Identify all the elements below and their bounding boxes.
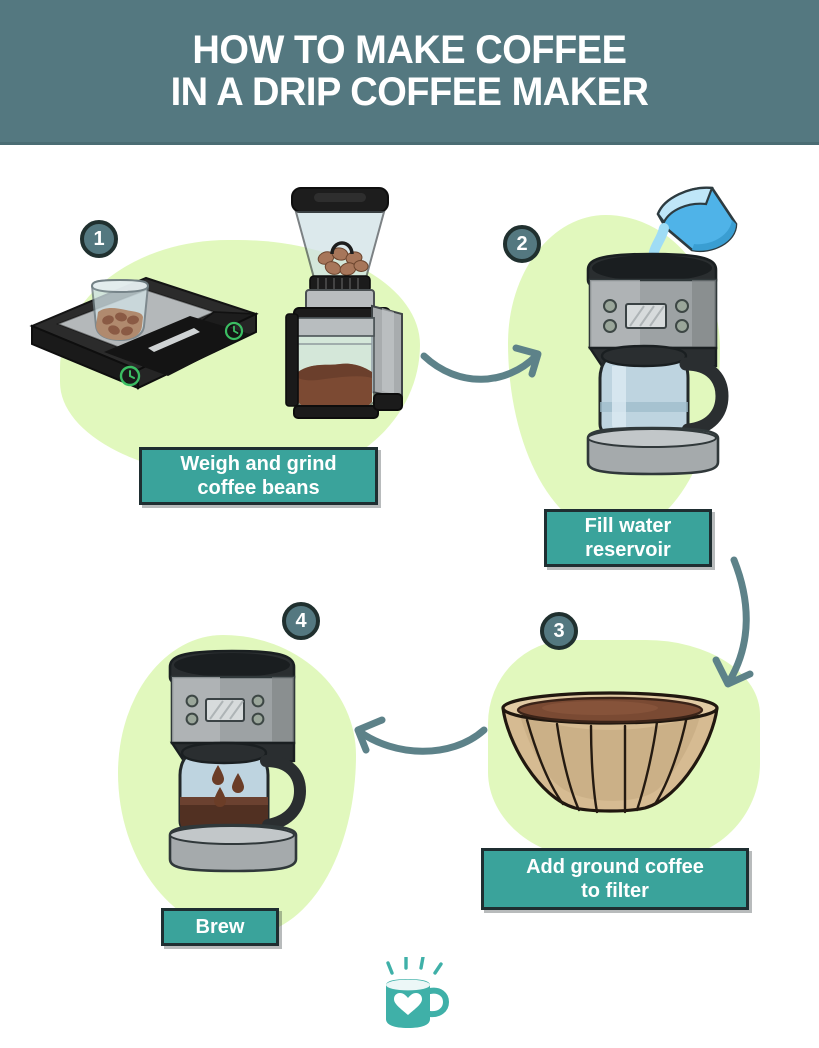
step-2-illustration xyxy=(540,180,770,480)
page-title-line-1: HOW TO MAKE COFFEE xyxy=(192,29,626,71)
step-1-number: 1 xyxy=(93,229,104,249)
step-1-number-badge: 1 xyxy=(80,220,118,258)
step-3-number-badge: 3 xyxy=(540,612,578,650)
step-1-illustration xyxy=(18,186,428,436)
coffee-mug-with-heart-icon xyxy=(362,957,458,1033)
step-1-label-chip: Weigh and grind coffee beans xyxy=(139,447,378,505)
page-title-line-2: IN A DRIP COFFEE MAKER xyxy=(171,71,649,113)
step-2-label-line-1: Fill water xyxy=(585,514,672,538)
step-4-label-chip: Brew xyxy=(161,908,279,946)
step-3-label-chip: Add ground coffee to filter xyxy=(481,848,749,910)
step-4-number-badge: 4 xyxy=(282,602,320,640)
step-4-number: 4 xyxy=(295,611,306,631)
step-2-number-badge: 2 xyxy=(503,225,541,263)
glass-cup-with-beans-icon xyxy=(92,280,148,340)
arrow-step3-to-step4 xyxy=(334,700,494,770)
brewing-coffee-maker-icon xyxy=(170,651,300,871)
step-2-number: 2 xyxy=(516,234,527,254)
paper-filter-basket-icon xyxy=(503,693,717,812)
step-4-label-line-1: Brew xyxy=(196,915,245,939)
step-2-label-chip: Fill water reservoir xyxy=(544,509,712,567)
step-2-label-line-2: reservoir xyxy=(585,538,672,562)
arrow-step1-to-step2 xyxy=(420,318,560,398)
infographic-page: HOW TO MAKE COFFEE IN A DRIP COFFEE MAKE… xyxy=(0,0,819,1048)
burr-coffee-grinder-icon xyxy=(286,188,402,418)
step-1-label-line-1: Weigh and grind xyxy=(180,452,336,476)
step-4-illustration xyxy=(140,645,340,915)
footer-decoration xyxy=(0,950,819,1040)
step-3-label-line-1: Add ground coffee xyxy=(526,855,704,879)
step-1-label-line-2: coffee beans xyxy=(180,476,336,500)
header-banner: HOW TO MAKE COFFEE IN A DRIP COFFEE MAKE… xyxy=(0,0,819,145)
step-3-label-line-2: to filter xyxy=(526,879,704,903)
arrow-step2-to-step3 xyxy=(700,552,810,712)
step-3-number: 3 xyxy=(553,621,564,641)
drip-coffee-maker-icon xyxy=(588,254,722,474)
step-3-illustration xyxy=(495,690,725,820)
